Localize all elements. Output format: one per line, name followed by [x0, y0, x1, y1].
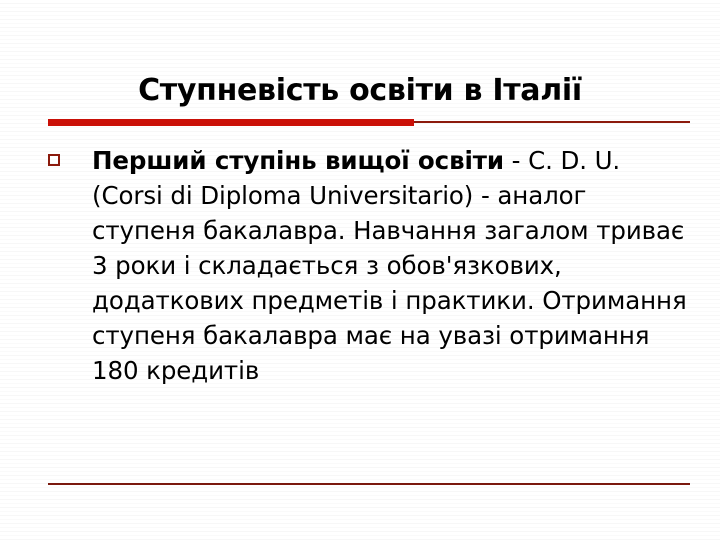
bullet-list-item: Перший ступінь вищої освіти - C. D. U. (…	[48, 143, 692, 388]
slide-body: Перший ступінь вищої освіти - C. D. U. (…	[48, 143, 692, 388]
bullet-item-rest-text: - C. D. U. (Corsi di Diploma Universitar…	[92, 146, 687, 385]
open-square-bullet-icon	[48, 154, 60, 166]
bullet-item-text: Перший ступінь вищої освіти - C. D. U. (…	[92, 143, 692, 388]
title-underline-accent-bar	[48, 119, 414, 126]
footer-rule	[48, 483, 690, 485]
slide-title: Ступневість освіти в Італії	[48, 73, 672, 109]
bullet-item-lead-text: Перший ступінь вищої освіти	[92, 146, 504, 175]
title-underline-group	[48, 119, 690, 128]
bullet-marker	[48, 143, 92, 166]
presentation-slide: Ступневість освіти в Італії Перший ступі…	[0, 0, 720, 540]
